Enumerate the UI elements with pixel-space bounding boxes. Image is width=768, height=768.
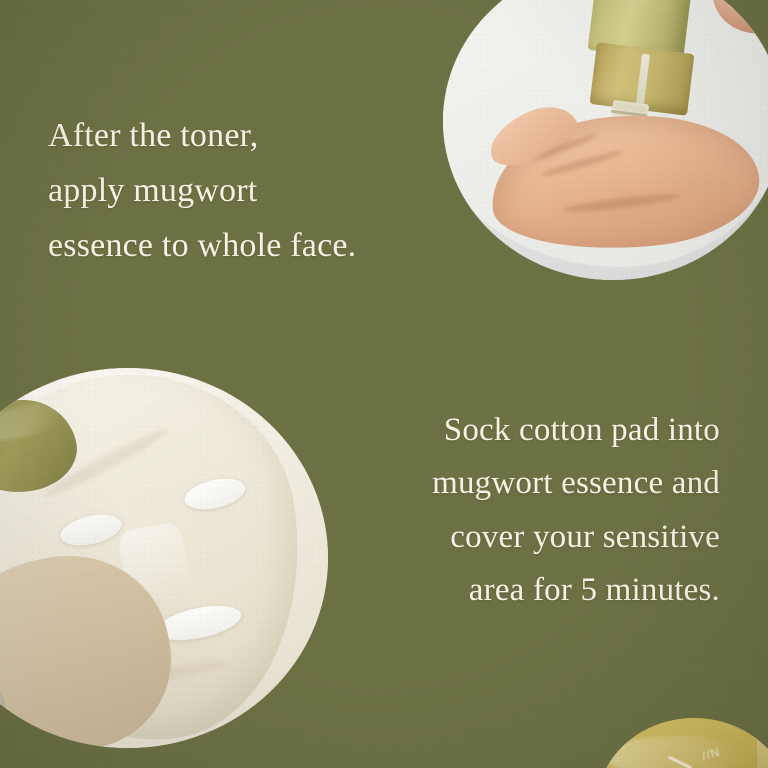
step-1-line-1: After the toner, <box>48 108 448 163</box>
instruction-step-1: After the toner, apply mugwort essence t… <box>48 108 448 273</box>
gold-bottle-rim <box>757 718 768 768</box>
step-2-line-3: cover your sensitive <box>300 511 720 564</box>
hand-bottle-photo <box>443 0 768 280</box>
instruction-step-2: Sock cotton pad into mugwort essence and… <box>300 404 720 618</box>
step-2-line-2: mugwort essence and <box>300 457 720 510</box>
step-1-line-2: apply mugwort <box>48 163 448 218</box>
gold-bottle-highlight <box>604 736 749 768</box>
step-2-line-1: Sock cotton pad into <box>300 404 720 457</box>
step-1-line-3: essence to whole face. <box>48 218 448 273</box>
step-2-line-4: area for 5 minutes. <box>300 564 720 617</box>
gold-bottle-photo: //N <box>596 718 768 768</box>
promo-canvas: //N After the toner, apply mugwort essen… <box>0 0 768 768</box>
sheet-mask-photo <box>0 368 328 748</box>
